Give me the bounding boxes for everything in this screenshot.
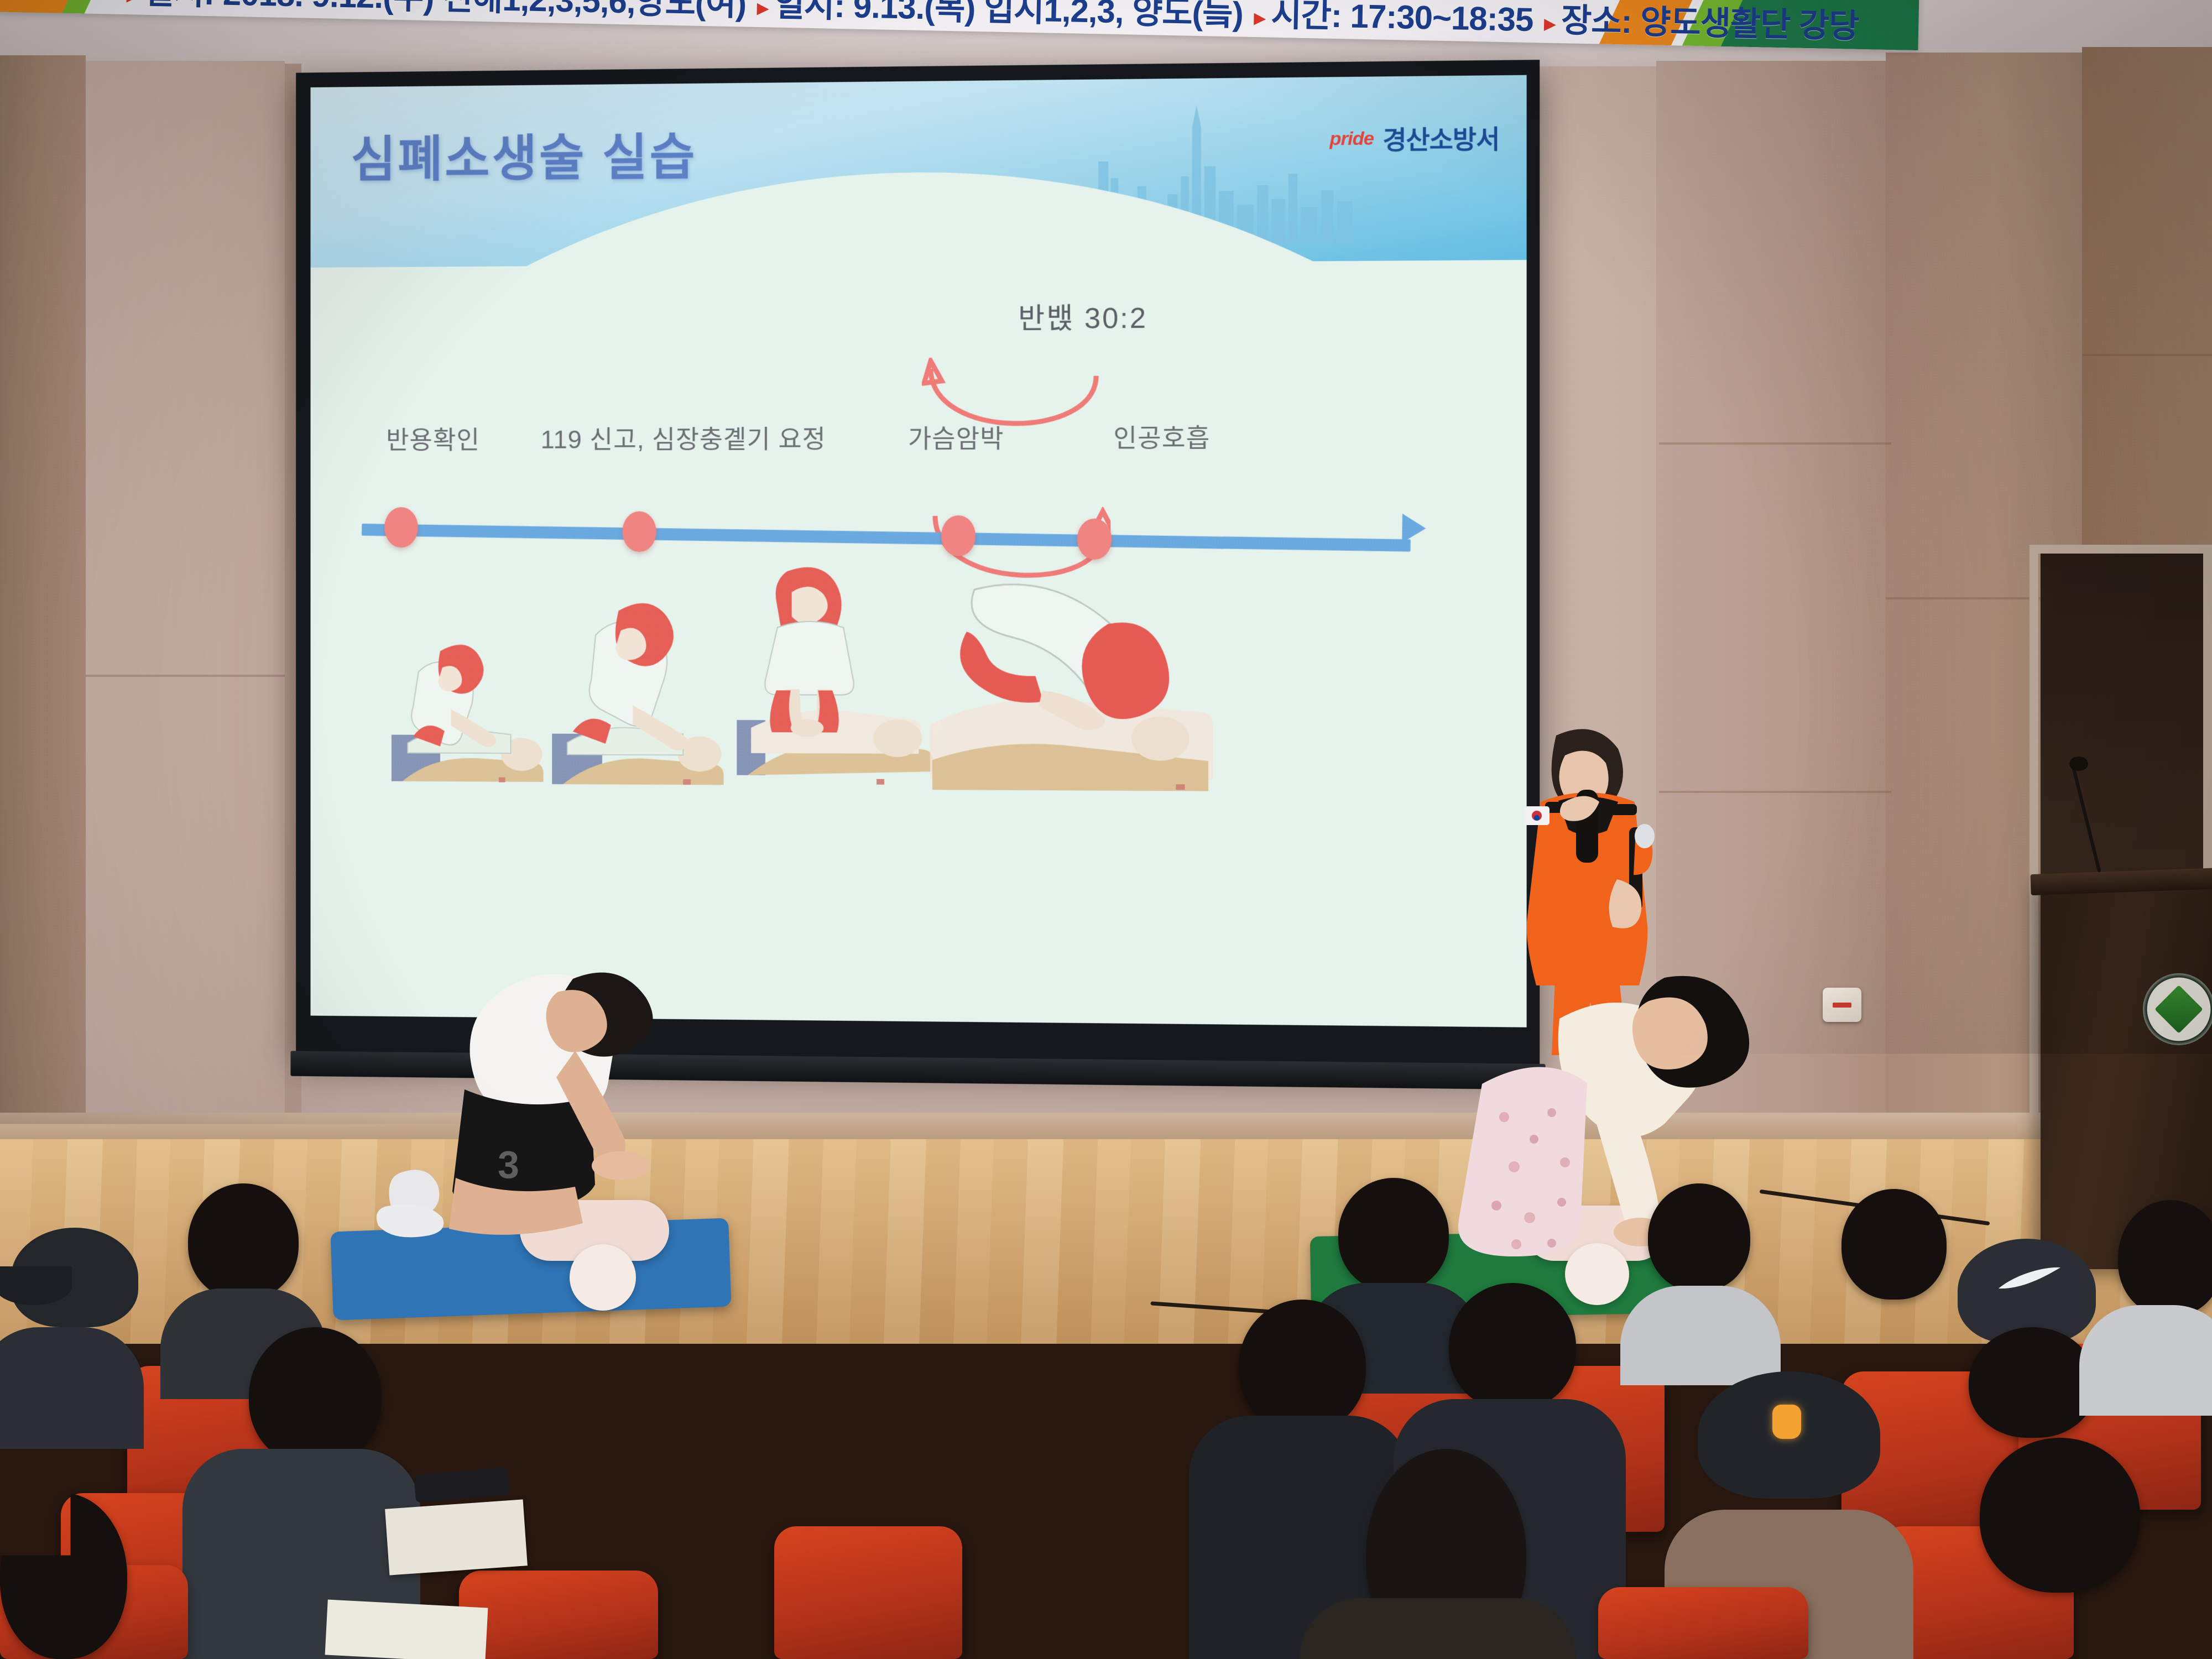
podium-emblem [2143, 973, 2212, 1045]
audience-head [1841, 1189, 1947, 1300]
slide-canvas: 심폐소생술 실습 pride 경산소방서 반밵 30:2 반용확인 [311, 75, 1527, 1027]
wall-seam [1659, 791, 1891, 793]
auditorium-seat[interactable] [774, 1526, 962, 1659]
pride-logo-icon: pride [1329, 128, 1374, 150]
paper-handout[interactable] [325, 1599, 488, 1659]
timeline-dot-4 [1077, 519, 1112, 560]
illustration-check-response [386, 617, 549, 787]
audience-head [1980, 1438, 2140, 1593]
audience-head [1648, 1183, 1750, 1291]
timeline-bar [362, 524, 1411, 552]
banner-segment-place: 장소: 양도생활단 강당 [1561, 2, 1859, 45]
illustration-chest-compression [734, 562, 933, 789]
banner-bullet-icon: ▸ [1251, 4, 1271, 32]
audience-head [188, 1183, 299, 1300]
step-label-4: 인공호흡 [1113, 418, 1210, 455]
slide-body: 반밵 30:2 반용확인 119 신고, 심장충곝기 요정 가슴암박 인공호흡 [311, 260, 1527, 1027]
scene-root: ▸일시: 2018. 9.12.(수) 진해1,2,3,5,6,양도(여) ▸일… [0, 0, 2212, 1659]
microphone-head-icon [2069, 757, 2088, 771]
banner-bullet-icon: ▸ [1542, 9, 1562, 37]
audience-head [2118, 1200, 2212, 1316]
banner-segment-time: 시간: 17:30~18:35 [1271, 0, 1533, 38]
audience-shoulders [1620, 1286, 1781, 1385]
slide-header: 심폐소생술 실습 pride 경산소방서 [311, 75, 1527, 268]
audience-shoulders [0, 1327, 144, 1449]
slide-title: 심폐소생술 실습 [351, 117, 697, 191]
timeline-arrowhead-icon [1402, 514, 1426, 543]
fire-service-emblem-icon [1635, 824, 1655, 848]
cpr-step-labels: 반용확인 119 신고, 심장충곝기 요정 가슴암박 인공호흡 [311, 417, 1527, 470]
switch-indicator-icon [1833, 1003, 1851, 1008]
wall-panel-left-1 [0, 55, 86, 1194]
audience-shoulders [2079, 1305, 2212, 1416]
light-switch[interactable] [1823, 988, 1861, 1022]
auditorium-seat[interactable] [459, 1571, 658, 1659]
demonstrator-left: 3 [332, 935, 730, 1288]
audience-head [1449, 1283, 1576, 1410]
illustration-rescue-breathing [925, 576, 1214, 794]
projection-screen: 심폐소생술 실습 pride 경산소방서 반밵 30:2 반용확인 [296, 60, 1540, 1068]
wall-seam [2082, 354, 2212, 356]
timeline-dot-3 [941, 515, 975, 556]
slide-logo: pride 경산소방서 [1329, 119, 1499, 157]
repeat-ratio-label: 반밵 30:2 [478, 291, 1527, 340]
slide-logo-text: 경산소방서 [1383, 119, 1499, 157]
audience-head [1969, 1327, 2096, 1438]
cap-character-patch-icon [1772, 1405, 1801, 1439]
timeline-dot-2 [622, 512, 656, 552]
step-label-2: 119 신고, 심장충곝기 요정 [541, 419, 826, 456]
instructor-shoulder-board [1606, 804, 1637, 815]
step-label-3: 가슴암박 [908, 418, 1004, 455]
cpr-timeline [362, 509, 1462, 549]
wall-panel-left-2 [86, 61, 285, 1189]
audience-head [1239, 1300, 1366, 1432]
auditorium-seat[interactable] [1598, 1587, 1808, 1659]
illustration-call-119 [549, 596, 734, 789]
audience-head [249, 1327, 382, 1465]
wall-seam [1659, 442, 1891, 445]
banner-bullet-icon: ▸ [124, 0, 144, 9]
nike-swoosh-icon [1996, 1266, 2063, 1294]
audience-head [1338, 1178, 1449, 1291]
shorts-number: 3 [498, 1143, 519, 1186]
paper-handout[interactable] [385, 1499, 528, 1575]
wall-seam [86, 675, 285, 677]
banner-bullet-icon: ▸ [754, 0, 774, 22]
university-seal-icon [2154, 985, 2203, 1034]
audience-head [0, 1493, 127, 1659]
banner-segment-date-2: 일시: 9.13.(목) 입시1,2,3, 양도(늨) [774, 0, 1243, 33]
timeline-dot-1 [384, 507, 418, 547]
demonstrator-left-hands [592, 1151, 649, 1180]
step-label-1: 반용확인 [386, 420, 480, 456]
audience-shoulders [1300, 1598, 1576, 1659]
